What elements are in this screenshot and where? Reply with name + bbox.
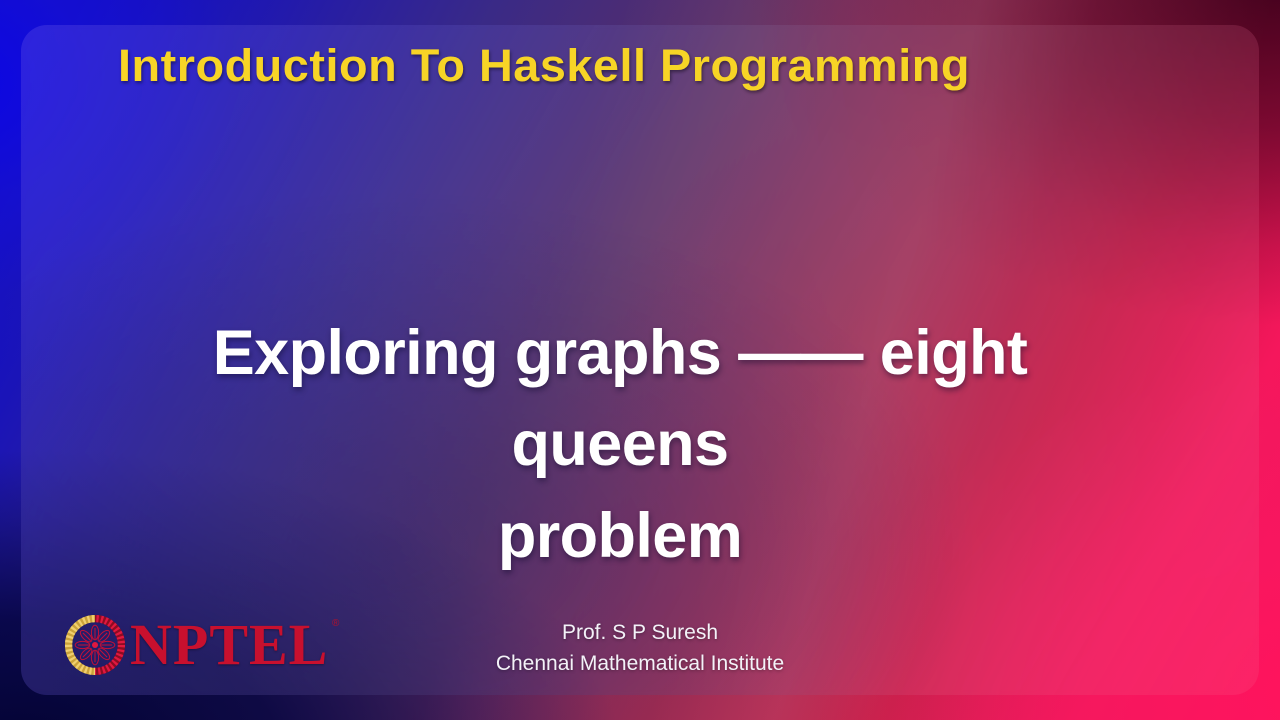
presenter-block: Prof. S P Suresh Chennai Mathematical In…	[340, 618, 940, 680]
main-heading: Exploring graphs —— eight queens problem	[120, 308, 1120, 582]
main-heading-line-1: Exploring graphs —— eight queens	[120, 308, 1120, 491]
nptel-wheel-emblem-icon	[62, 612, 128, 678]
nptel-wordmark: NPTEL	[130, 616, 328, 674]
nptel-logo: NPTEL ®	[62, 612, 328, 678]
slide-root: Introduction To Haskell Programming Expl…	[0, 0, 1280, 720]
main-heading-line-2: problem	[120, 491, 1120, 582]
presenter-name: Prof. S P Suresh	[340, 618, 940, 648]
registered-trademark-icon: ®	[332, 618, 339, 629]
presenter-organization: Chennai Mathematical Institute	[340, 648, 940, 680]
course-title: Introduction To Haskell Programming	[118, 40, 1158, 92]
nptel-wordmark-wrap: NPTEL ®	[130, 616, 328, 674]
